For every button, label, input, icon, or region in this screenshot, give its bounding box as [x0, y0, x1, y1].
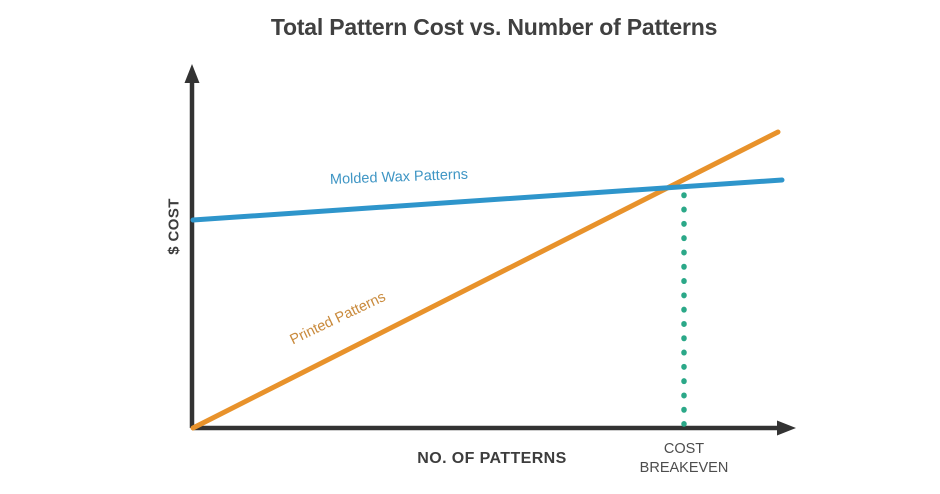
- series-line-printed-patterns: [193, 132, 778, 428]
- y-axis-arrow-icon: [185, 64, 200, 83]
- chart-container: Total Pattern Cost vs. Number of Pattern…: [0, 0, 940, 494]
- x-axis-arrow-icon: [777, 421, 796, 436]
- series-line-molded-wax-patterns: [193, 180, 782, 220]
- breakeven-label-line-1: COST: [609, 440, 759, 459]
- y-axis-title: $ COST: [166, 177, 183, 277]
- breakeven-annotation: COST BREAKEVEN: [609, 440, 759, 478]
- plot-area: [0, 0, 940, 494]
- breakeven-label-line-2: BREAKEVEN: [609, 459, 759, 478]
